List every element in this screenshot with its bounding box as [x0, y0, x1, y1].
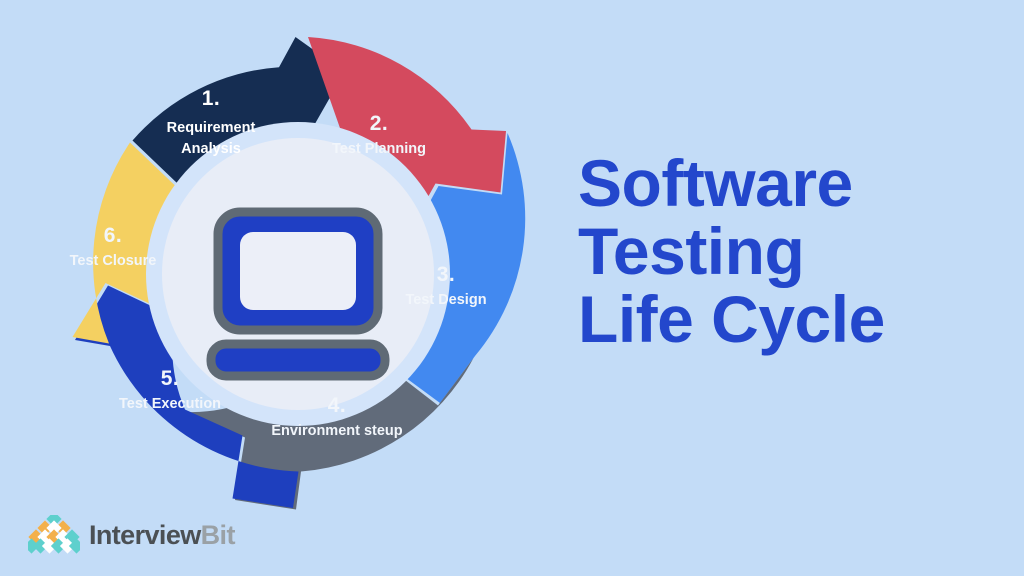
stlc-cycle-diagram: 1. Requirement Analysis 2. Test Planning…: [48, 34, 548, 514]
title-line-3: Life Cycle: [578, 286, 998, 354]
title-line-1: Software: [578, 150, 998, 218]
segment-1-label-line2: Analysis: [181, 141, 241, 157]
segment-4-label: Environment steup: [271, 423, 402, 439]
slide-canvas: 1. Requirement Analysis 2. Test Planning…: [0, 0, 1024, 576]
segment-1-number: 1.: [202, 87, 221, 110]
segment-6-number: 6.: [104, 224, 123, 247]
segment-5-label: Test Execution: [119, 396, 221, 412]
laptop-icon: [211, 212, 385, 376]
segment-5-number: 5.: [161, 367, 180, 390]
segment-3-number: 3.: [437, 263, 456, 286]
page-title: Software Testing Life Cycle: [578, 150, 998, 354]
interviewbit-logo[interactable]: InterviewBit: [28, 515, 235, 555]
segment-6-label: Test Closure: [70, 253, 157, 269]
interviewbit-logo-text: InterviewBit: [89, 520, 235, 551]
logo-text-primary: Interview: [89, 520, 201, 550]
segment-3-label: Test Design: [405, 292, 486, 308]
segment-2-label: Test Planning: [332, 141, 426, 157]
logo-text-secondary: Bit: [201, 520, 235, 550]
title-line-2: Testing: [578, 218, 998, 286]
segment-2-number: 2.: [370, 112, 389, 135]
segment-4-number: 4.: [328, 394, 347, 417]
interviewbit-logo-mark: [28, 515, 80, 555]
segment-1-label-line1: Requirement: [167, 120, 256, 136]
